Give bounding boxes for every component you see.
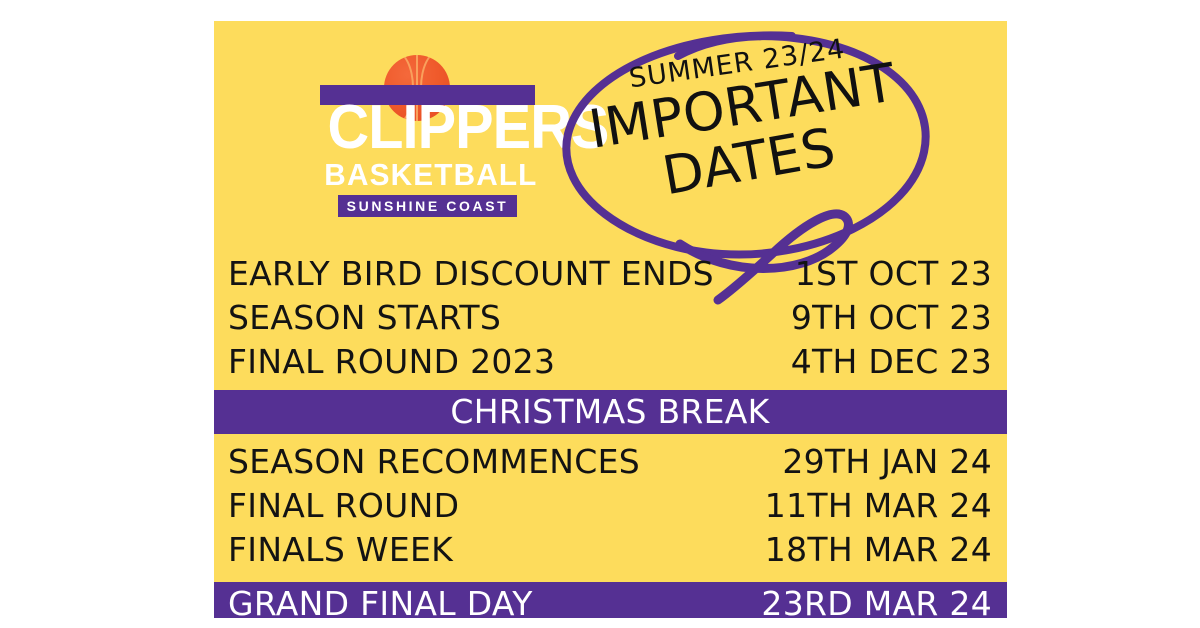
schedule-date: 1ST OCT 23: [795, 256, 992, 292]
schedule-date: 9TH OCT 23: [791, 300, 992, 336]
poster-panel: CLIPPERS BASKETBALL SUNSHINE COAST SUMME…: [214, 21, 1007, 618]
schedule-row: FINAL ROUND 11TH MAR 24: [214, 484, 1007, 528]
schedule-date: 23RD MAR 24: [761, 586, 992, 618]
schedule-label: GRAND FINAL DAY: [228, 586, 533, 618]
schedule-row: FINALS WEEK 18TH MAR 24: [214, 528, 1007, 572]
schedule-label: FINAL ROUND: [228, 488, 459, 524]
schedule-row: SEASON STARTS 9TH OCT 23: [214, 296, 1007, 340]
schedule-date: 4TH DEC 23: [791, 344, 992, 380]
schedule-date: 29TH JAN 24: [782, 444, 992, 480]
schedule-label: SEASON RECOMMENCES: [228, 444, 640, 480]
schedule-row: EARLY BIRD DISCOUNT ENDS 1ST OCT 23: [214, 252, 1007, 296]
schedule-row: SEASON RECOMMENCES 29TH JAN 24: [214, 440, 1007, 484]
schedule-label: SEASON STARTS: [228, 300, 501, 336]
poster-canvas: CLIPPERS BASKETBALL SUNSHINE COAST SUMME…: [0, 0, 1200, 628]
schedule-row: FINAL ROUND 2023 4TH DEC 23: [214, 340, 1007, 384]
logo-wordmark-sunshine-coast: SUNSHINE COAST: [338, 198, 517, 215]
schedule-row-grand-final: GRAND FINAL DAY 23RD MAR 24: [214, 582, 1007, 618]
schedule-label: FINAL ROUND 2023: [228, 344, 555, 380]
logo-wordmark-clippers: CLIPPERS: [328, 97, 528, 159]
poster-heading: SUMMER 23/24 IMPORTANT DATES: [557, 28, 932, 213]
logo-wordmark-basketball: BASKETBALL: [324, 159, 530, 190]
schedule-label: FINALS WEEK: [228, 532, 453, 568]
schedule-label: CHRISTMAS BREAK: [450, 394, 769, 430]
schedule-label: EARLY BIRD DISCOUNT ENDS: [228, 256, 714, 292]
schedule-date: 18TH MAR 24: [765, 532, 992, 568]
row-gap: [214, 572, 1007, 582]
schedule-row-christmas-break: CHRISTMAS BREAK: [214, 390, 1007, 434]
schedule-date: 11TH MAR 24: [765, 488, 992, 524]
clippers-logo: CLIPPERS BASKETBALL SUNSHINE COAST: [320, 55, 535, 233]
schedule-list: EARLY BIRD DISCOUNT ENDS 1ST OCT 23 SEAS…: [214, 252, 1007, 618]
